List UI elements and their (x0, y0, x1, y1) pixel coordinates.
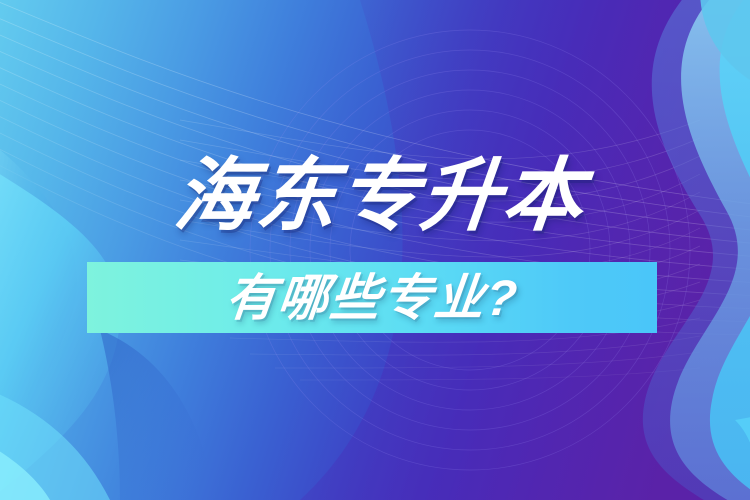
promo-banner: 海东专升本 有哪些专业? (0, 0, 750, 500)
headline-wrap: 海东专升本 (170, 148, 590, 244)
headline-text: 海东专升本 (171, 156, 589, 236)
subhead-text: 有哪些专业? (223, 273, 521, 323)
subhead-ribbon: 有哪些专业? (87, 262, 657, 333)
banner-content: 海东专升本 有哪些专业? (0, 0, 750, 500)
